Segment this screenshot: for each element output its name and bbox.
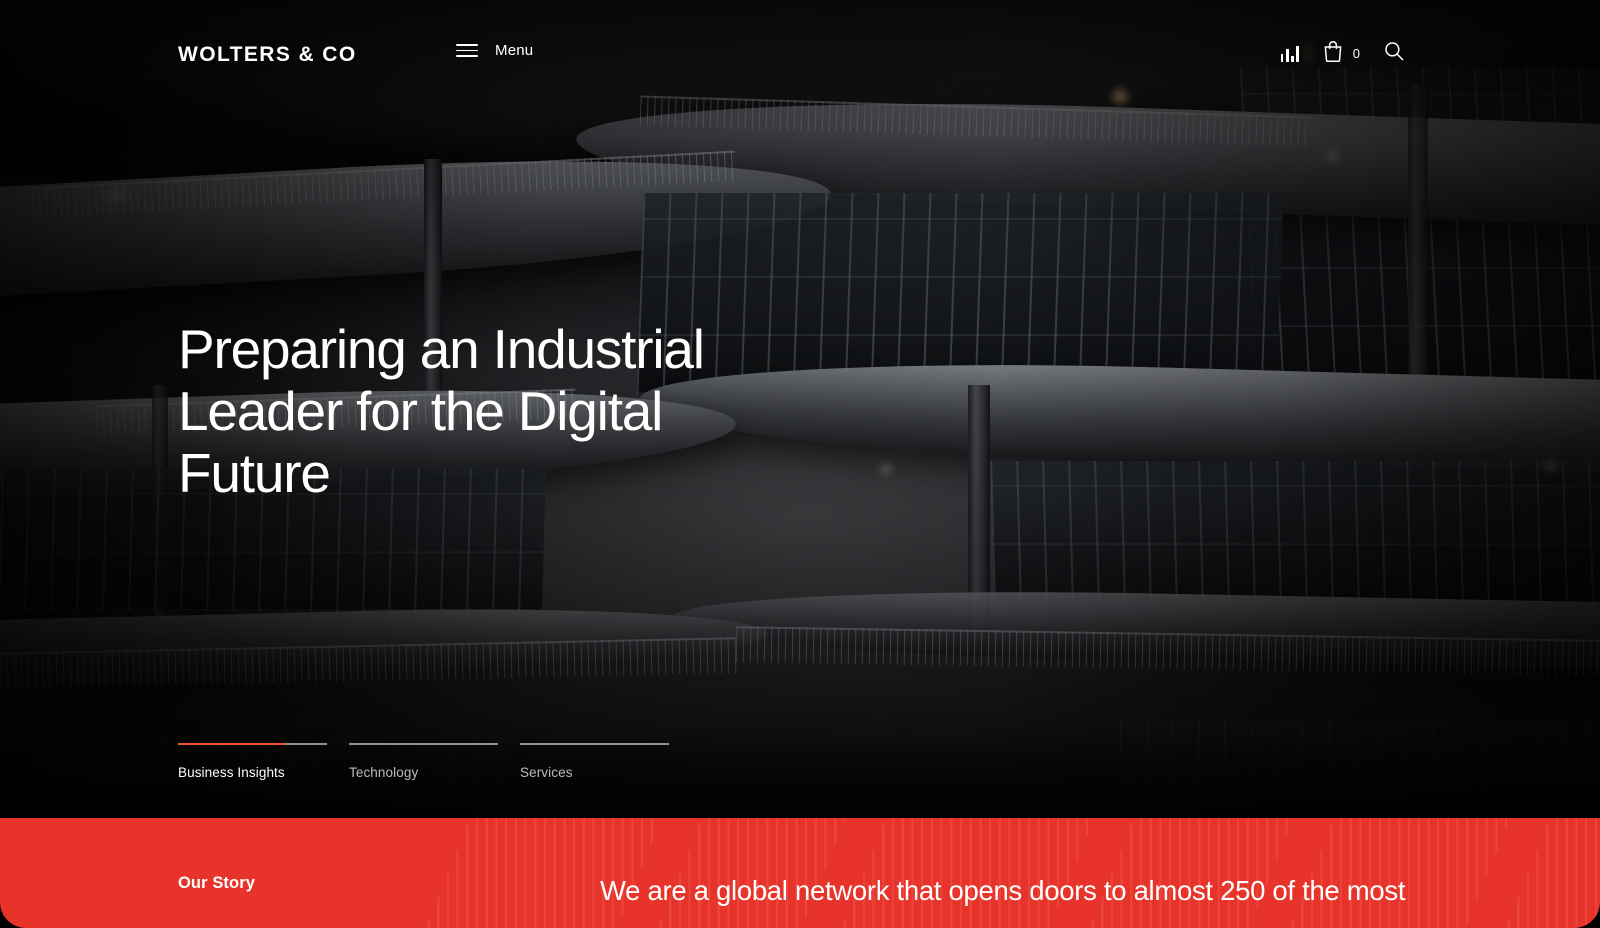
slider-progress-fill (178, 743, 285, 745)
menu-label: Menu (495, 42, 533, 59)
slider-tab-technology[interactable]: Technology (349, 743, 512, 780)
cart-button[interactable]: 0 (1323, 40, 1360, 67)
shopping-bag-icon (1323, 40, 1343, 67)
slider-tab-label: Services (520, 765, 683, 780)
hamburger-icon (456, 44, 478, 57)
slider-progress-track (520, 743, 669, 745)
hero-headline: Preparing an Industrial Leader for the D… (178, 318, 818, 504)
site-header: WOLTERS & CO Menu 0 (0, 0, 1600, 112)
slider-tab-business-insights[interactable]: Business Insights (178, 743, 341, 780)
search-icon (1384, 41, 1404, 66)
equalizer-button[interactable] (1281, 46, 1299, 62)
our-story-text: We are a global network that opens doors… (600, 873, 1580, 909)
hero-section: Preparing an Industrial Leader for the D… (0, 0, 1600, 838)
our-story-label: Our Story (178, 874, 255, 893)
slider-tab-label: Business Insights (178, 765, 341, 780)
landing-page: Preparing an Industrial Leader for the D… (0, 0, 1600, 928)
slider-progress-track (178, 743, 327, 745)
search-button[interactable] (1384, 41, 1404, 66)
brand-logo[interactable]: WOLTERS & CO (178, 43, 357, 67)
cart-count: 0 (1353, 46, 1360, 61)
equalizer-icon (1281, 46, 1299, 62)
menu-toggle[interactable]: Menu (456, 42, 533, 59)
slider-tab-label: Technology (349, 765, 512, 780)
slider-tab-services[interactable]: Services (520, 743, 683, 780)
hero-slider-tabs: Business Insights Technology Services (178, 743, 683, 780)
header-actions: 0 (1281, 40, 1404, 67)
slider-progress-track (349, 743, 498, 745)
